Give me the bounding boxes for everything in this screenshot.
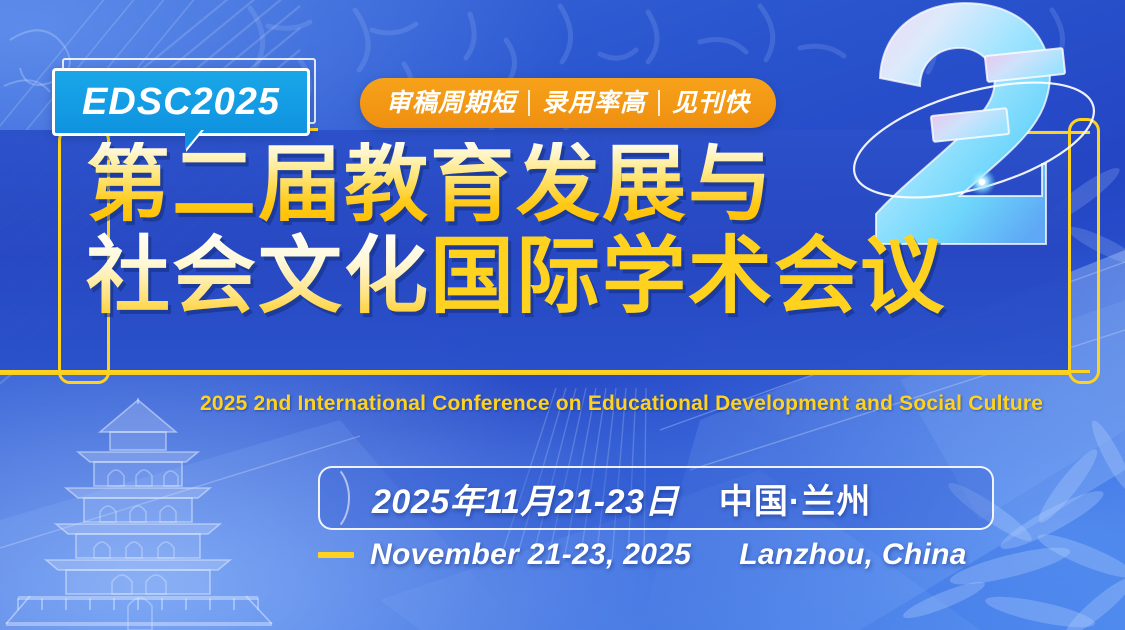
dash-icon	[318, 552, 354, 558]
event-date-box: 2025年11月21-23日 中国·兰州	[318, 466, 994, 530]
frame-bottom-bar	[0, 370, 1090, 373]
edsc-tab-label: EDSC2025	[82, 83, 280, 121]
event-place-cn: 中国·兰州	[719, 474, 871, 523]
title-line-1: 第二届教育发展与	[86, 142, 946, 228]
pagoda-icon	[6, 398, 272, 630]
status-badge: 审稿周期短 录用率高 见刊快	[360, 78, 776, 128]
badge-item-1: 录用率高	[542, 91, 646, 116]
badge-item-0: 审稿周期短	[386, 91, 516, 116]
event-date-cn: 2025年11月21-23日	[372, 474, 679, 523]
title-line-2-solid: 国际学术会议	[430, 229, 946, 323]
badge-item-2: 见刊快	[672, 91, 750, 116]
event-date-line-en: November 21-23, 2025 Lanzhou, China	[318, 538, 967, 572]
badge-separator-1	[658, 90, 660, 116]
badge-separator-0	[528, 90, 530, 116]
title-line-2-gradient: 社会文化	[86, 229, 430, 323]
event-place-en: Lanzhou, China	[739, 538, 967, 572]
event-date-en: November 21-23, 2025	[370, 538, 691, 572]
edsc-tab[interactable]: EDSC2025	[52, 68, 310, 136]
subtitle-english: 2025 2nd International Conference on Edu…	[200, 392, 1043, 416]
page-title: 第二届教育发展与 社会文化国际学术会议	[86, 142, 946, 319]
title-line-2: 社会文化国际学术会议	[86, 234, 946, 320]
conference-banner: EDSC2025 审稿周期短 录用率高 见刊快 第二届教育发展与 社会文化国际学…	[0, 0, 1125, 630]
